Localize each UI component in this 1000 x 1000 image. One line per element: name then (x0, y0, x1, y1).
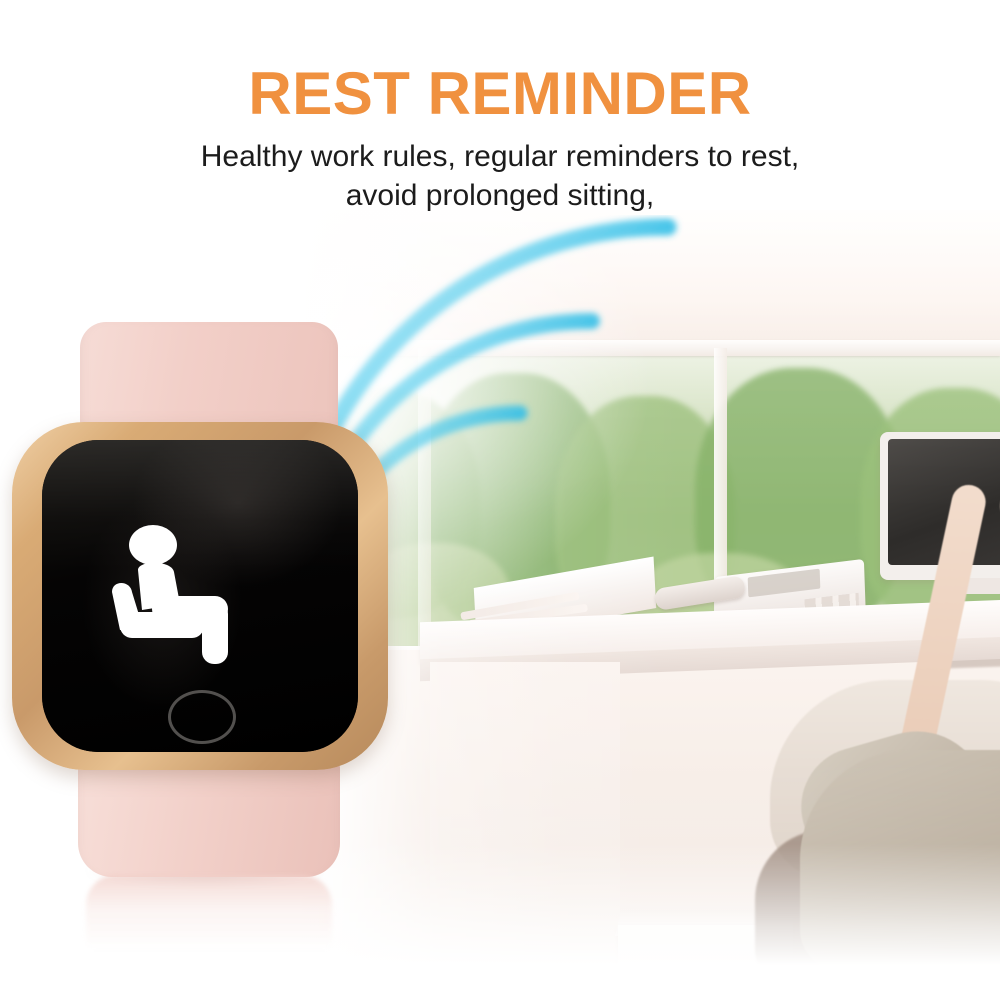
watch-case-bezel[interactable] (12, 422, 388, 770)
watch-screen-housing (42, 440, 358, 752)
window-mullion (418, 348, 431, 660)
smartwatch (0, 300, 400, 950)
header-text-block: REST REMINDER Healthy work rules, regula… (0, 0, 1000, 215)
watch-band-bottom (78, 762, 340, 877)
sitting-person-icon (94, 518, 244, 668)
subtitle-line-2: avoid prolonged sitting, (0, 177, 1000, 215)
home-button-ring[interactable] (168, 690, 236, 744)
wall-upper (300, 210, 1000, 360)
watch-screen[interactable] (42, 440, 358, 752)
page-subtitle: Healthy work rules, regular reminders to… (0, 124, 1000, 215)
office-scene-photo (300, 210, 1000, 965)
desk-panel (430, 662, 620, 962)
product-banner: REST REMINDER Healthy work rules, regula… (0, 0, 1000, 1000)
subtitle-line-1: Healthy work rules, regular reminders to… (0, 138, 1000, 176)
scene-backdrop (300, 210, 1000, 965)
page-title: REST REMINDER (0, 0, 1000, 124)
watch-band-reflection (86, 875, 332, 950)
window-frame-top (300, 340, 1000, 356)
